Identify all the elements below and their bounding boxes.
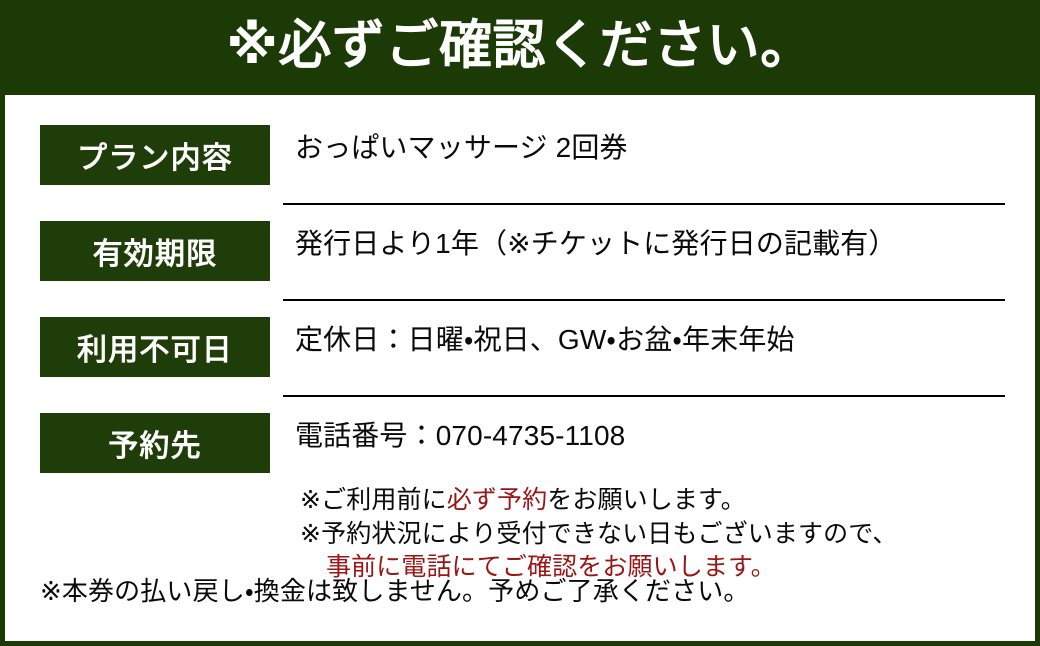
note-text-pre: ※ご利用前に <box>300 486 447 514</box>
row-body-validity-period: 発行日より1年（※チケットに発行日の記載有） <box>270 221 1035 261</box>
row-spacer <box>5 377 1035 395</box>
table-row: プラン内容 おっぱいマッサージ 2回券 <box>5 125 1035 185</box>
row-value-plan-content: おっぱいマッサージ 2回券 <box>295 131 1035 165</box>
reservation-notes: ※ご利用前に必ず予約をお願いします。 ※予約状況により受付できない日もございます… <box>5 473 1035 585</box>
voucher-notice-panel: ※必ずご確認ください。 プラン内容 おっぱいマッサージ 2回券 有効期限 発行日… <box>0 0 1040 646</box>
row-value-phone-number: 電話番号：070-4735-1108 <box>295 419 1035 453</box>
row-spacer <box>5 205 1035 221</box>
row-spacer <box>5 185 1035 203</box>
row-label-unavailable-days: 利用不可日 <box>40 317 270 377</box>
note-text-post: をお願いします。 <box>547 486 746 514</box>
row-label-validity-period: 有効期限 <box>40 221 270 281</box>
page-title: ※必ずご確認ください。 <box>226 19 813 72</box>
reservation-note-line-2: ※予約状況により受付できない日もございますので、 <box>300 518 1035 552</box>
row-value-validity-period: 発行日より1年（※チケットに発行日の記載有） <box>295 227 1035 261</box>
footer-note-no-refund: ※本券の払い戻し・換金は致しません。予めご了承ください。 <box>40 571 750 608</box>
note-text-emphasis: 必ず予約 <box>447 486 548 514</box>
row-body-reservation-contact: 電話番号：070-4735-1108 <box>270 413 1035 453</box>
table-row: 利用不可日 定休日：日曜・祝日、GW・お盆・年末年始 <box>5 317 1035 377</box>
reservation-note-line-1: ※ご利用前に必ず予約をお願いします。 <box>300 484 1035 518</box>
row-label-plan-content: プラン内容 <box>40 125 270 185</box>
table-row: 有効期限 発行日より1年（※チケットに発行日の記載有） <box>5 221 1035 281</box>
row-label-reservation-contact: 予約先 <box>40 413 270 473</box>
row-spacer <box>5 397 1035 413</box>
details-table: プラン内容 おっぱいマッサージ 2回券 有効期限 発行日より1年（※チケットに発… <box>5 95 1035 473</box>
row-body-unavailable-days: 定休日：日曜・祝日、GW・お盆・年末年始 <box>270 317 1035 357</box>
header-band: ※必ずご確認ください。 <box>0 0 1040 95</box>
row-spacer <box>5 281 1035 299</box>
row-spacer <box>5 301 1035 317</box>
row-value-unavailable-days: 定休日：日曜・祝日、GW・お盆・年末年始 <box>295 323 1035 357</box>
table-row: 予約先 電話番号：070-4735-1108 <box>5 413 1035 473</box>
row-body-plan-content: おっぱいマッサージ 2回券 <box>270 125 1035 165</box>
